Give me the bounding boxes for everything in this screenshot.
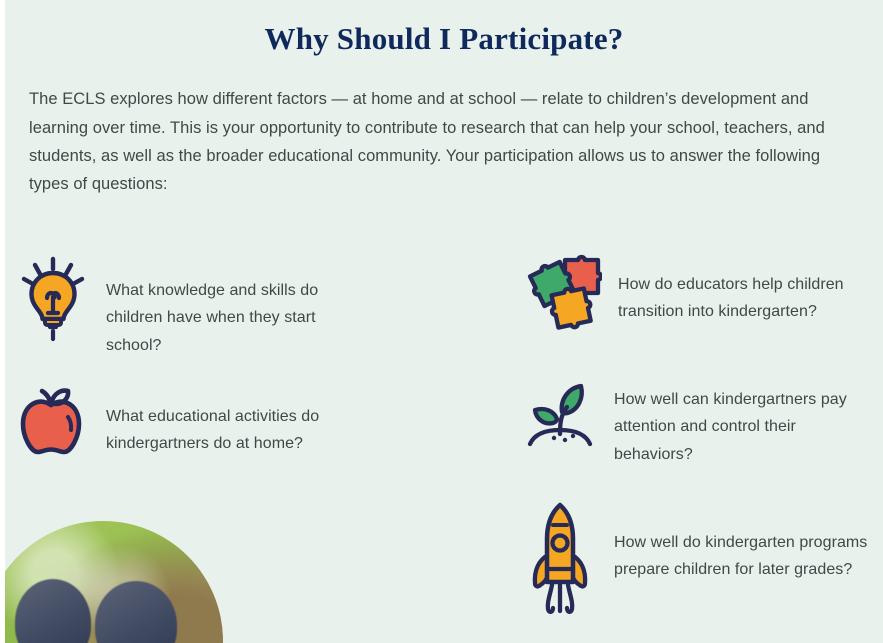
question-item-programs: How well do kindergarten programs prepar… xyxy=(524,499,874,624)
rocket-icon xyxy=(524,499,596,624)
puzzle-pieces-icon xyxy=(524,253,602,342)
photo-child-right xyxy=(95,581,177,643)
question-item-knowledge: What knowledge and skills do children ha… xyxy=(18,253,348,360)
sprout-icon xyxy=(524,378,596,455)
page-container: Why Should I Participate? The ECLS explo… xyxy=(5,0,883,643)
question-item-transition: How do educators help children transitio… xyxy=(524,253,869,342)
question-text: How well can kindergartners pay attentio… xyxy=(614,386,874,469)
question-item-activities: What educational activities do kindergar… xyxy=(18,383,348,466)
intro-paragraph: The ECLS explores how different factors … xyxy=(29,85,853,199)
question-text: How do educators help children transitio… xyxy=(618,271,869,326)
photo-child-left xyxy=(15,579,91,643)
question-text: How well do kindergarten programs prepar… xyxy=(614,529,874,584)
question-text: What educational activities do kindergar… xyxy=(106,403,348,458)
question-item-attention: How well can kindergartners pay attentio… xyxy=(524,378,874,469)
lightbulb-icon xyxy=(18,253,88,350)
question-text: What knowledge and skills do children ha… xyxy=(106,277,346,360)
page-title: Why Should I Participate? xyxy=(5,0,883,57)
apple-icon xyxy=(18,383,84,466)
